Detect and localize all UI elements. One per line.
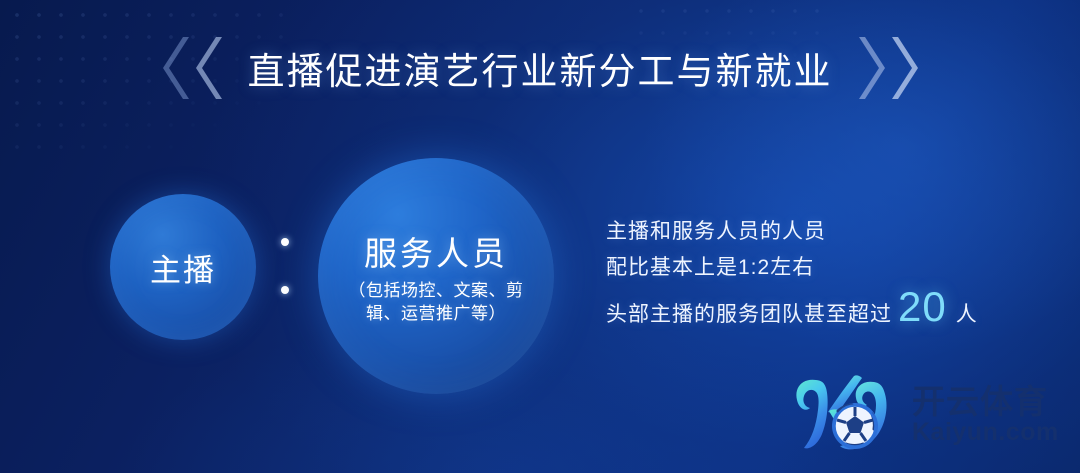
description-line-3: 头部主播的服务团队甚至超过 20 人 — [606, 286, 1026, 333]
page-title: 直播促进演艺行业新分工与新就业 — [248, 41, 833, 95]
colon-dot-bottom — [281, 286, 289, 294]
kaiyun-k-soccer-ball-logo — [788, 364, 904, 460]
double-chevron-right-icon — [859, 37, 918, 99]
title-band: 直播促进演艺行业新分工与新就业 — [0, 22, 1080, 114]
brand-url: Kaiyun.com — [912, 420, 1059, 445]
highlight-number: 20 — [898, 286, 947, 328]
brand-logo: 开云体育 Kaiyun.com — [788, 358, 1080, 466]
description-line-3-suffix: 人 — [956, 297, 978, 333]
description-line-3-prefix: 头部主播的服务团队甚至超过 — [606, 297, 892, 333]
description-line-1: 主播和服务人员的人员 — [606, 214, 1026, 250]
description-line-2: 配比基本上是1:2左右 — [606, 250, 1026, 286]
service-staff-label: 服务人员 — [364, 227, 508, 275]
anchor-role-label: 主播 — [150, 245, 216, 290]
colon-dot-top — [281, 238, 289, 246]
brand-name-cn: 开云体育 — [912, 385, 1059, 418]
service-staff-sublabel: （包括场控、文案、剪辑、运营推广等） — [348, 279, 524, 325]
double-chevron-left-icon — [163, 37, 222, 99]
slide-canvas: 直播促进演艺行业新分工与新就业 主播 服务人员 （包括场控、文案、剪辑、运营推广… — [0, 0, 1080, 473]
brand-wordmark: 开云体育 Kaiyun.com — [912, 379, 1059, 445]
service-staff-circle: 服务人员 （包括场控、文案、剪辑、运营推广等） — [318, 158, 554, 394]
ratio-colon-separator — [276, 238, 294, 294]
description-text-block: 主播和服务人员的人员 配比基本上是1:2左右 头部主播的服务团队甚至超过 20 … — [606, 214, 1026, 333]
anchor-role-circle: 主播 — [110, 194, 256, 340]
